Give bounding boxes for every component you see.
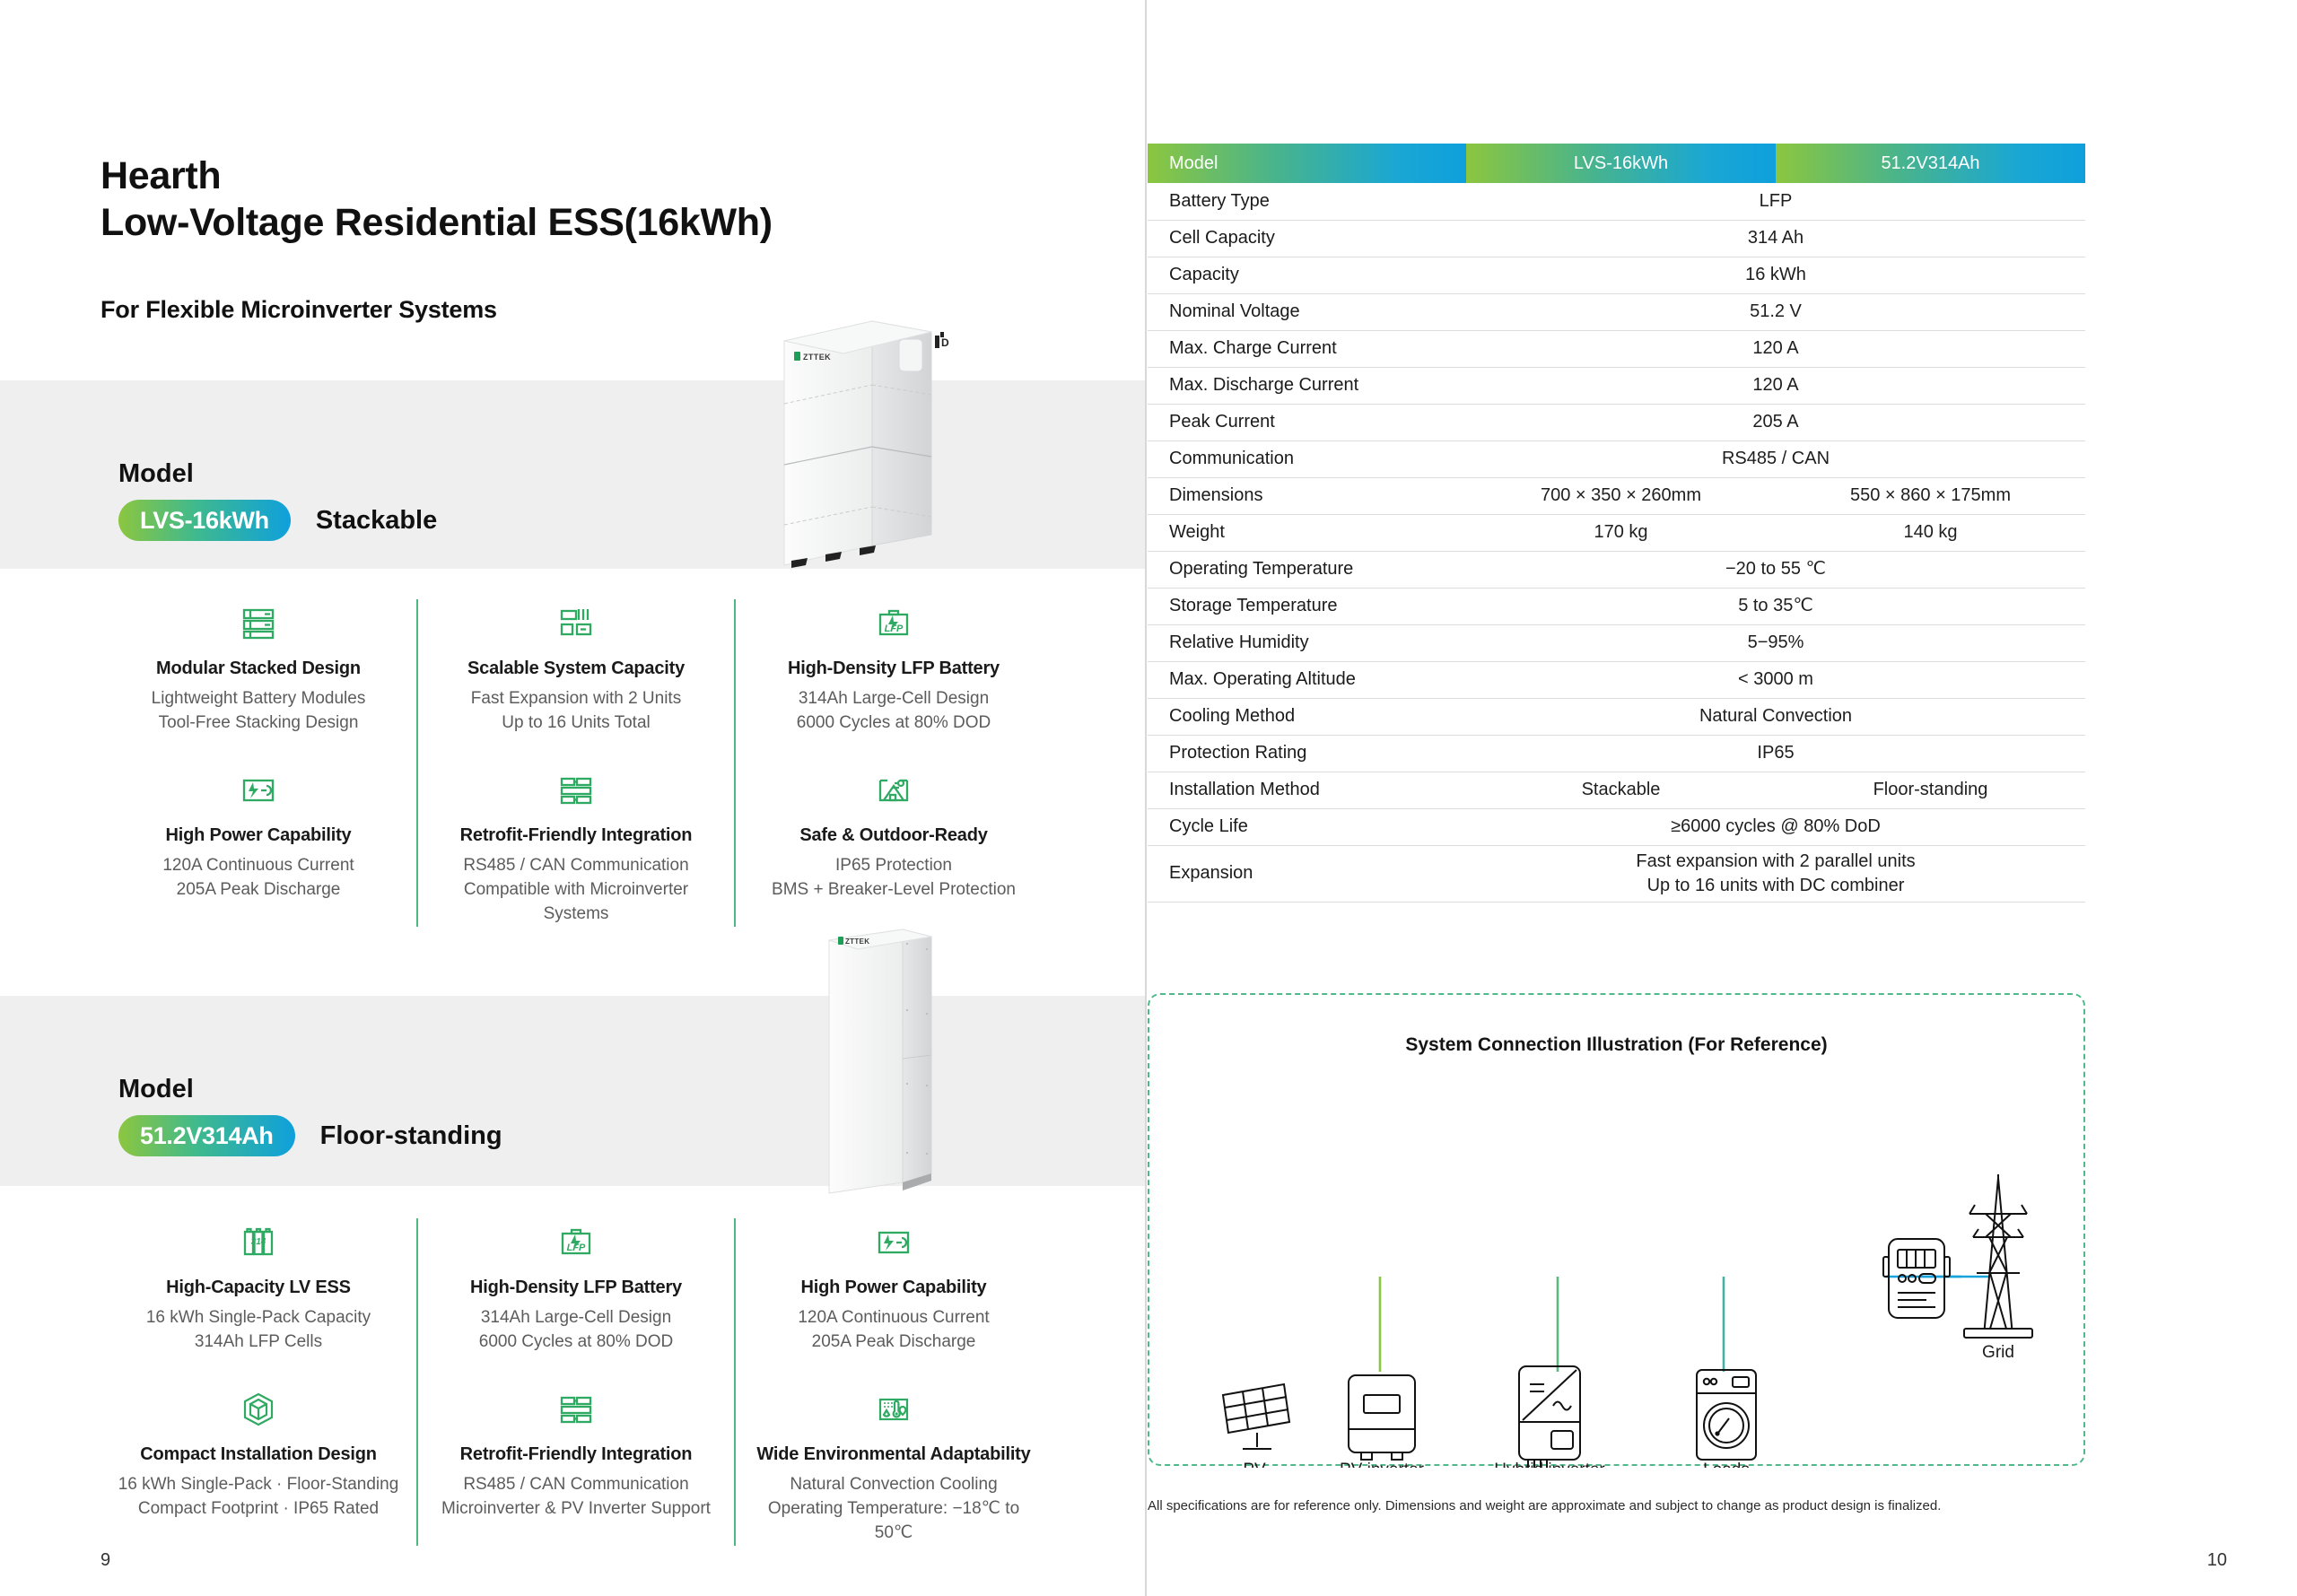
floor-standing-battery-cabinet-icon: ZTTEK bbox=[817, 924, 969, 1211]
feature-line: Operating Temperature: −18℃ to 50℃ bbox=[748, 1497, 1039, 1546]
row-key: Weight bbox=[1148, 514, 1466, 551]
scalable-units-icon bbox=[431, 599, 721, 648]
feature-line: 16 kWh Single-Pack Capacity bbox=[113, 1306, 404, 1330]
svg-text:314: 314 bbox=[251, 1237, 266, 1247]
feature-line: 16 kWh Single-Pack · Floor-Standing bbox=[113, 1473, 404, 1497]
header-model: Model bbox=[1148, 144, 1466, 183]
feature-item: Wide Environmental Adaptability Natural … bbox=[748, 1385, 1039, 1546]
row-key: Cooling Method bbox=[1148, 698, 1466, 735]
feature-line: 6000 Cycles at 80% DOD bbox=[748, 711, 1039, 736]
feature-line: RS485 / CAN Communication bbox=[431, 1473, 721, 1497]
feature-line: 314Ah Large-Cell Design bbox=[748, 687, 1039, 711]
row-key: Max. Operating Altitude bbox=[1148, 661, 1466, 698]
right-page: Model LVS-16kWh 51.2V314Ah Battery TypeL… bbox=[1147, 0, 2297, 1596]
feature-item: 314 High-Capacity LV ESS 16 kWh Single-P… bbox=[113, 1218, 404, 1355]
network-integration-icon bbox=[431, 1385, 721, 1434]
table-header-row: Model LVS-16kWh 51.2V314Ah bbox=[1148, 144, 2085, 183]
feature-title: Retrofit-Friendly Integration bbox=[431, 1444, 721, 1465]
washing-machine-icon bbox=[1697, 1370, 1756, 1460]
table-row: Cooling MethodNatural Convection bbox=[1148, 698, 2085, 735]
table-row: Max. Charge Current120 A bbox=[1148, 330, 2085, 367]
feature-line: Compatible with Microinverter Systems bbox=[431, 878, 721, 927]
feature-title: High-Capacity LV ESS bbox=[113, 1278, 404, 1298]
specification-table: Model LVS-16kWh 51.2V314Ah Battery TypeL… bbox=[1148, 144, 2085, 903]
feature-line: 205A Peak Discharge bbox=[113, 878, 404, 903]
page-number-right: 10 bbox=[2207, 1550, 2227, 1571]
table-row: Storage Temperature5 to 35℃ bbox=[1148, 588, 2085, 624]
model-block-stackable: Model LVS-16kWh Stackable bbox=[118, 459, 437, 541]
feature-title: High Power Capability bbox=[748, 1278, 1039, 1298]
model-label: Model bbox=[118, 1075, 502, 1104]
outdoor-house-icon bbox=[748, 766, 1039, 815]
feature-title: Retrofit-Friendly Integration bbox=[431, 825, 721, 846]
power-bolt-plug-icon bbox=[113, 766, 404, 815]
energy-meter-icon bbox=[1883, 1239, 1950, 1318]
install-type-label: Stackable bbox=[316, 506, 437, 536]
row-value-a: 700 × 350 × 260mm bbox=[1466, 477, 1776, 514]
table-row: Expansion Fast expansion with 2 parallel… bbox=[1148, 845, 2085, 902]
feature-item: Modular Stacked Design Lightweight Batte… bbox=[113, 599, 404, 736]
row-key: Battery Type bbox=[1148, 183, 1466, 220]
feature-column: High Power Capability 120A Continuous Cu… bbox=[734, 1218, 1052, 1546]
row-value-merged: −20 to 55 ℃ bbox=[1466, 551, 2085, 588]
feature-title: High-Density LFP Battery bbox=[431, 1278, 721, 1298]
feature-grid-section-1: Modular Stacked Design Lightweight Batte… bbox=[100, 599, 1052, 927]
table-row: Operating Temperature−20 to 55 ℃ bbox=[1148, 551, 2085, 588]
specification-table-wrapper: Model LVS-16kWh 51.2V314Ah Battery TypeL… bbox=[1148, 144, 2085, 903]
system-connection-diagram: System Connection Illustration (For Refe… bbox=[1148, 993, 2085, 1466]
row-value-merged: 120 A bbox=[1466, 330, 2085, 367]
row-value-b: Floor-standing bbox=[1776, 772, 2085, 808]
table-row: Max. Operating Altitude< 3000 m bbox=[1148, 661, 2085, 698]
feature-title: High Power Capability bbox=[113, 825, 404, 846]
row-value-a: 170 kg bbox=[1466, 514, 1776, 551]
feature-line: 314Ah LFP Cells bbox=[113, 1330, 404, 1355]
feature-column: 314 High-Capacity LV ESS 16 kWh Single-P… bbox=[100, 1218, 416, 1546]
header-512v314ah: 51.2V314Ah bbox=[1776, 144, 2085, 183]
feature-item: High Power Capability 120A Continuous Cu… bbox=[113, 766, 404, 903]
feature-line: Tool-Free Stacking Design bbox=[113, 711, 404, 736]
row-value-merged: LFP bbox=[1466, 183, 2085, 220]
feature-item: Scalable System Capacity Fast Expansion … bbox=[431, 599, 721, 736]
node-label-pv: PV bbox=[1243, 1461, 1266, 1468]
node-label-grid: Grid bbox=[1982, 1343, 2014, 1362]
feature-item: High Power Capability 120A Continuous Cu… bbox=[748, 1218, 1039, 1355]
product-image-floorstanding: ZTTEK bbox=[817, 924, 969, 1211]
table-row: Dimensions700 × 350 × 260mm550 × 860 × 1… bbox=[1148, 477, 2085, 514]
expansion-line-1: Fast expansion with 2 parallel units bbox=[1473, 850, 2078, 874]
row-value-merged: 205 A bbox=[1466, 404, 2085, 440]
feature-line: 6000 Cycles at 80% DOD bbox=[431, 1330, 721, 1355]
title-line-1: Hearth bbox=[100, 153, 773, 199]
feature-item: Retrofit-Friendly Integration RS485 / CA… bbox=[431, 766, 721, 927]
table-row: Max. Discharge Current120 A bbox=[1148, 367, 2085, 404]
row-value-merged: 51.2 V bbox=[1466, 293, 2085, 330]
svg-text:LFP: LFP bbox=[567, 1243, 586, 1253]
row-key: Max. Discharge Current bbox=[1148, 367, 1466, 404]
feature-title: Safe & Outdoor-Ready bbox=[748, 825, 1039, 846]
feature-line: 205A Peak Discharge bbox=[748, 1330, 1039, 1355]
svg-text:ZTTEK: ZTTEK bbox=[845, 938, 869, 946]
row-value-merged: ≥6000 cycles @ 80% DoD bbox=[1466, 808, 2085, 845]
table-row: Cell Capacity314 Ah bbox=[1148, 220, 2085, 257]
feature-line: Fast Expansion with 2 Units bbox=[431, 687, 721, 711]
row-value-merged: 120 A bbox=[1466, 367, 2085, 404]
table-row: Protection RatingIP65 bbox=[1148, 735, 2085, 772]
row-value-merged: IP65 bbox=[1466, 735, 2085, 772]
feature-line: RS485 / CAN Communication bbox=[431, 854, 721, 878]
table-body: Battery TypeLFP Cell Capacity314 Ah Capa… bbox=[1148, 183, 2085, 902]
table-row: Weight170 kg140 kg bbox=[1148, 514, 2085, 551]
row-key: Max. Charge Current bbox=[1148, 330, 1466, 367]
table-row: Peak Current205 A bbox=[1148, 404, 2085, 440]
pv-inverter-icon bbox=[1349, 1375, 1415, 1460]
title-line-2: Low-Voltage Residential ESS(16kWh) bbox=[100, 199, 773, 246]
feature-title: Modular Stacked Design bbox=[113, 658, 404, 679]
feature-title: Wide Environmental Adaptability bbox=[748, 1444, 1039, 1465]
power-bolt-plug-icon bbox=[748, 1218, 1039, 1267]
solar-panel-icon bbox=[1223, 1384, 1289, 1449]
table-row: Capacity16 kWh bbox=[1148, 257, 2085, 293]
table-row: CommunicationRS485 / CAN bbox=[1148, 440, 2085, 477]
row-key: Peak Current bbox=[1148, 404, 1466, 440]
feature-item: LFP High-Density LFP Battery 314Ah Large… bbox=[431, 1218, 721, 1355]
network-integration-icon bbox=[431, 766, 721, 815]
feature-item: LFP High-Density LFP Battery 314Ah Large… bbox=[748, 599, 1039, 736]
page-subtitle: For Flexible Microinverter Systems bbox=[100, 296, 497, 324]
lfp-battery-icon: LFP bbox=[748, 599, 1039, 648]
table-row: Relative Humidity5−95% bbox=[1148, 624, 2085, 661]
model-block-floorstanding: Model 51.2V314Ah Floor-standing bbox=[118, 1075, 502, 1156]
product-datasheet-spread: Hearth Low-Voltage Residential ESS(16kWh… bbox=[0, 0, 2297, 1596]
diagram-canvas: PV PV inverter bbox=[1149, 995, 2087, 1468]
row-key: Operating Temperature bbox=[1148, 551, 1466, 588]
row-value-merged: < 3000 m bbox=[1466, 661, 2085, 698]
feature-item: Compact Installation Design 16 kWh Singl… bbox=[113, 1385, 404, 1522]
feature-line: IP65 Protection bbox=[748, 854, 1039, 878]
feature-line: BMS + Breaker-Level Protection bbox=[748, 878, 1039, 903]
compact-cube-icon bbox=[113, 1385, 404, 1434]
feature-line: Up to 16 Units Total bbox=[431, 711, 721, 736]
node-label-hybrid-inverter: Hybrid inverter bbox=[1494, 1461, 1605, 1468]
row-key: Capacity bbox=[1148, 257, 1466, 293]
row-key: Nominal Voltage bbox=[1148, 293, 1466, 330]
row-key: Cycle Life bbox=[1148, 808, 1466, 845]
feature-item: Retrofit-Friendly Integration RS485 / CA… bbox=[431, 1385, 721, 1522]
row-value-merged: 314 Ah bbox=[1466, 220, 2085, 257]
feature-line: Compact Footprint · IP65 Rated bbox=[113, 1497, 404, 1522]
model-label: Model bbox=[118, 459, 437, 489]
feature-line: Lightweight Battery Modules bbox=[113, 687, 404, 711]
stacked-battery-cabinet-icon: ZTTEK D bbox=[764, 305, 971, 583]
stacked-modules-icon bbox=[113, 599, 404, 648]
row-value-merged: 16 kWh bbox=[1466, 257, 2085, 293]
page-title: Hearth Low-Voltage Residential ESS(16kWh… bbox=[100, 153, 773, 247]
row-value-merged: 5−95% bbox=[1466, 624, 2085, 661]
header-lvs16kwh: LVS-16kWh bbox=[1466, 144, 1776, 183]
model-badge-lvs16kwh[interactable]: LVS-16kWh bbox=[118, 500, 291, 541]
expansion-line-2: Up to 16 units with DC combiner bbox=[1473, 874, 2078, 898]
feature-line: 314Ah Large-Cell Design bbox=[431, 1306, 721, 1330]
row-key: Expansion bbox=[1148, 845, 1466, 902]
disclaimer-note: All specifications are for reference onl… bbox=[1148, 1498, 2099, 1513]
table-row: Installation MethodStackableFloor-standi… bbox=[1148, 772, 2085, 808]
feature-line: Microinverter & PV Inverter Support bbox=[431, 1497, 721, 1522]
feature-item: Safe & Outdoor-Ready IP65 Protection BMS… bbox=[748, 766, 1039, 903]
node-label-pv-inverter: PV inverter bbox=[1340, 1461, 1425, 1468]
product-image-stackable: ZTTEK D bbox=[764, 305, 971, 583]
install-type-label: Floor-standing bbox=[320, 1121, 502, 1151]
feature-title: Compact Installation Design bbox=[113, 1444, 404, 1465]
row-key: Relative Humidity bbox=[1148, 624, 1466, 661]
svg-text:ZTTEK: ZTTEK bbox=[803, 353, 831, 362]
table-row: Nominal Voltage51.2 V bbox=[1148, 293, 2085, 330]
row-key: Installation Method bbox=[1148, 772, 1466, 808]
table-row: Battery TypeLFP bbox=[1148, 183, 2085, 220]
row-key: Protection Rating bbox=[1148, 735, 1466, 772]
feature-grid-section-2: 314 High-Capacity LV ESS 16 kWh Single-P… bbox=[100, 1218, 1052, 1546]
svg-text:D: D bbox=[941, 336, 949, 349]
row-key: Dimensions bbox=[1148, 477, 1466, 514]
feature-column: LFP High-Density LFP Battery 314Ah Large… bbox=[416, 1218, 734, 1546]
row-value-merged: 5 to 35℃ bbox=[1466, 588, 2085, 624]
feature-column: Modular Stacked Design Lightweight Batte… bbox=[100, 599, 416, 927]
hybrid-inverter-icon bbox=[1519, 1366, 1580, 1468]
row-value-a: Stackable bbox=[1466, 772, 1776, 808]
node-label-loads: Loads bbox=[1703, 1461, 1750, 1468]
row-value-b: 550 × 860 × 175mm bbox=[1776, 477, 2085, 514]
left-page: Hearth Low-Voltage Residential ESS(16kWh… bbox=[0, 0, 1147, 1596]
page-number-left: 9 bbox=[100, 1550, 110, 1571]
row-key: Storage Temperature bbox=[1148, 588, 1466, 624]
cells-314-icon: 314 bbox=[113, 1218, 404, 1267]
feature-line: 120A Continuous Current bbox=[748, 1306, 1039, 1330]
feature-column: Scalable System Capacity Fast Expansion … bbox=[416, 599, 734, 927]
environment-thermo-icon bbox=[748, 1385, 1039, 1434]
lfp-battery-icon: LFP bbox=[431, 1218, 721, 1267]
svg-text:LFP: LFP bbox=[885, 624, 904, 634]
row-key: Communication bbox=[1148, 440, 1466, 477]
feature-line: Natural Convection Cooling bbox=[748, 1473, 1039, 1497]
row-key: Cell Capacity bbox=[1148, 220, 1466, 257]
feature-title: Scalable System Capacity bbox=[431, 658, 721, 679]
row-value-merged: Natural Convection bbox=[1466, 698, 2085, 735]
row-value-merged: RS485 / CAN bbox=[1466, 440, 2085, 477]
row-value-merged: Fast expansion with 2 parallel units Up … bbox=[1466, 845, 2085, 902]
transmission-tower-icon bbox=[1964, 1174, 2032, 1338]
model-badge-512v314ah[interactable]: 51.2V314Ah bbox=[118, 1115, 295, 1156]
table-row: Cycle Life≥6000 cycles @ 80% DoD bbox=[1148, 808, 2085, 845]
feature-title: High-Density LFP Battery bbox=[748, 658, 1039, 679]
row-value-b: 140 kg bbox=[1776, 514, 2085, 551]
feature-line: 120A Continuous Current bbox=[113, 854, 404, 878]
feature-column: LFP High-Density LFP Battery 314Ah Large… bbox=[734, 599, 1052, 927]
